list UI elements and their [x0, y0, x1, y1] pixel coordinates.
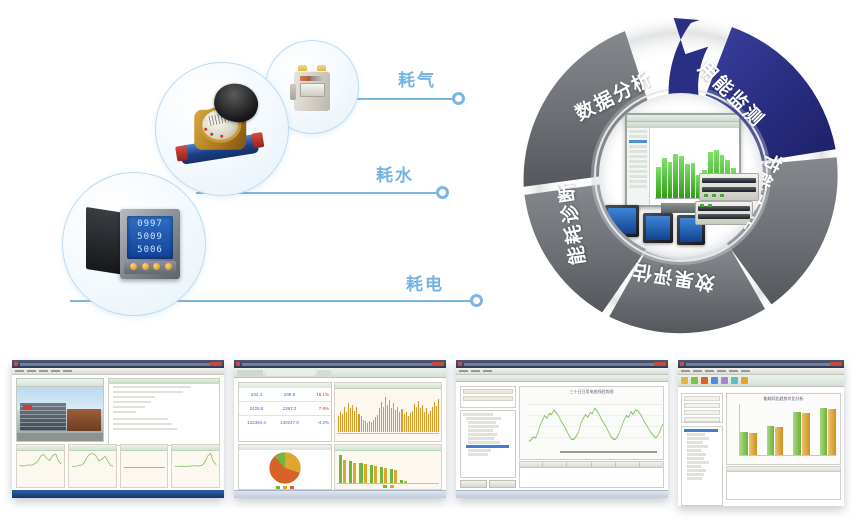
hub-monitor-sidebar: [627, 128, 650, 205]
hub-device-panel-1: [605, 205, 639, 237]
filter-panel[interactable]: [460, 386, 516, 408]
titlebar: [234, 360, 446, 368]
sparkline: [71, 452, 114, 469]
sparkline: [123, 452, 166, 469]
pie-legend: [239, 486, 331, 489]
pie-chart: [268, 451, 302, 485]
connector-dot-water: [436, 186, 449, 199]
bar-group: [740, 404, 757, 455]
bar-group: [820, 404, 837, 455]
kpi-compare: 2267.2: [274, 406, 305, 411]
cycle-center-image: [599, 93, 763, 257]
building-photo: [16, 386, 104, 442]
statusbar: [456, 490, 668, 498]
comparison-chart-panel: 能耗同比趋势对比分析: [726, 393, 841, 465]
titlebar: [678, 360, 844, 368]
data-table-panel: [519, 461, 664, 488]
menubar[interactable]: [12, 368, 224, 375]
energy-share-pie-panel: [238, 444, 332, 490]
kpi-row: 2428.8 2267.2 7.6%: [239, 402, 331, 416]
device-bubbles-panel: 耗气 耗水 耗电 0997: [0, 0, 500, 345]
trend-chart-title: 三十日日用电曲线趋势图: [520, 387, 663, 395]
kpi-compare: 140247.8: [274, 420, 305, 425]
toolbar[interactable]: [456, 375, 668, 382]
statusbar: [234, 490, 446, 498]
mini-chart-water: [16, 444, 65, 488]
energy-management-cycle-diagram: 用能监测 节能实施 效果评估 能耗诊断 数据分析: [516, 10, 846, 340]
titlebar: [12, 360, 224, 368]
info-text-panel: [108, 378, 220, 446]
water-meter-icon: [176, 86, 264, 176]
screenshot-overview-monitoring-app[interactable]: [12, 360, 224, 498]
kpi-percent: -4.2%: [307, 420, 329, 425]
report-detail-panel: [726, 466, 841, 500]
comparison-chart-title: 能耗同比趋势对比分析: [727, 394, 840, 402]
trend-chart-panel: 三十日日用电曲线趋势图: [519, 386, 664, 460]
query-button[interactable]: [460, 480, 487, 488]
column-legend: [335, 484, 441, 489]
mini-chart-temperature: [171, 444, 220, 488]
screenshot-trend-analysis-app[interactable]: 三十日日用电曲线趋势图: [456, 360, 668, 498]
kpi-current: 242.4: [241, 392, 272, 397]
gas-meter-icon: [290, 62, 334, 112]
power-meter-buttons[interactable]: [130, 263, 172, 272]
label-gas-consumption: 耗气: [398, 66, 436, 91]
mini-chart-gas: [120, 444, 169, 488]
trend-line-chart: [528, 395, 664, 449]
sparkline: [174, 452, 217, 469]
connector-dot-gas: [452, 92, 465, 105]
chart-scrollbar[interactable]: [560, 451, 657, 453]
screenshot-energy-dashboard-app[interactable]: 242.4 208.8 16.1% 2428.8 2267.2 7.6% 132…: [234, 360, 446, 498]
hub-din-rail-meter-1: [699, 173, 759, 201]
application-screenshots-row: 242.4 208.8 16.1% 2428.8 2267.2 7.6% 132…: [0, 352, 851, 520]
toolbar[interactable]: [678, 375, 844, 387]
mini-chart-electricity: [68, 444, 117, 488]
kpi-current: 2428.8: [241, 406, 272, 411]
label-water-consumption: 耗水: [376, 161, 414, 186]
power-meter-bubble: 0997 5009 5006: [62, 172, 206, 316]
taskbar[interactable]: [12, 490, 224, 498]
connector-dot-electricity: [470, 294, 483, 307]
sparkline: [19, 452, 62, 469]
kpi-percent: 16.1%: [307, 392, 329, 397]
kpi-row: 132394.4 140247.8 -4.2%: [239, 416, 331, 429]
water-meter-bubble: [155, 62, 289, 196]
menubar[interactable]: [678, 368, 844, 375]
label-electricity-consumption: 耗电: [406, 270, 444, 295]
kpi-row: 242.4 208.8 16.1%: [239, 388, 331, 402]
menubar[interactable]: [456, 368, 668, 375]
hourly-bar-chart: [334, 382, 442, 442]
screenshot-comparison-report-app[interactable]: 能耗同比趋势对比分析: [678, 360, 844, 506]
lcd-line-2: 5009: [127, 231, 173, 244]
hub-device-panel-2: [643, 213, 673, 243]
toolbar[interactable]: [234, 368, 446, 378]
export-button[interactable]: [489, 480, 516, 488]
power-meter-lcd: 0997 5009 5006: [127, 216, 173, 259]
lcd-line-3: 5006: [127, 244, 173, 257]
power-meter-icon: 0997 5009 5006: [86, 207, 182, 281]
titlebar: [456, 360, 668, 368]
bar-group: [767, 404, 784, 455]
bar-group: [793, 404, 810, 455]
hub-din-rail-meter-2: [695, 201, 753, 225]
kpi-compare: 208.8: [274, 392, 305, 397]
device-tree[interactable]: [460, 410, 516, 478]
ranking-column-chart: [334, 444, 442, 490]
kpi-current: 132394.4: [241, 420, 272, 425]
query-form[interactable]: [681, 393, 723, 423]
kpi-percent: 7.6%: [307, 406, 329, 411]
object-tree[interactable]: [681, 426, 723, 506]
lcd-line-1: 0997: [127, 218, 173, 231]
kpi-panel: 242.4 208.8 16.1% 2428.8 2267.2 7.6% 132…: [238, 382, 332, 442]
